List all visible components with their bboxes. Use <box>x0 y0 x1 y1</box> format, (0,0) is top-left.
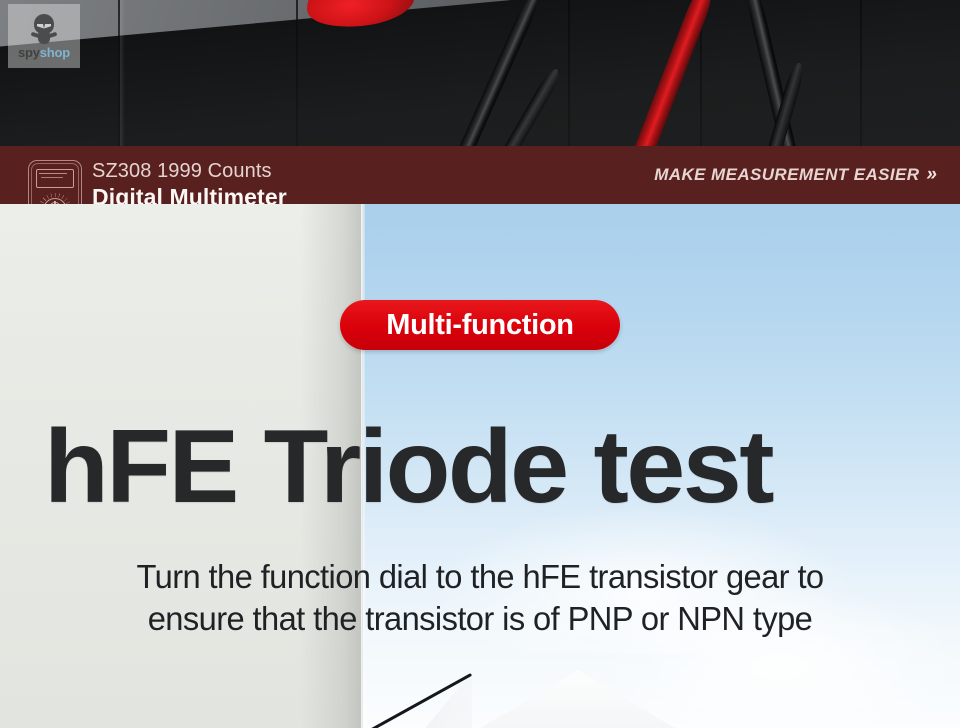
panel-seam <box>860 0 862 146</box>
product-code-label: SZ308 1999 Counts <box>92 160 287 184</box>
watermark-label: spyshop <box>18 46 70 59</box>
panel-seam <box>568 0 570 146</box>
multi-function-badge: Multi-function <box>340 300 620 350</box>
watermark-text-secondary: shop <box>40 45 70 60</box>
product-corner-edge <box>262 672 532 728</box>
header-tagline: MAKE MEASUREMENT EASIER » <box>654 164 934 186</box>
promo-banner: spyshop SZ308 1999 Counts Digital Multim… <box>0 0 960 728</box>
tagline-text: MAKE MEASUREMENT EASIER <box>654 165 919 185</box>
badge-label: Multi-function <box>386 311 573 340</box>
subtitle-line-2: ensure that the transistor is of PNP or … <box>5 598 955 640</box>
page-subtitle: Turn the function dial to the hFE transi… <box>5 556 955 640</box>
ninja-mascot-icon <box>31 14 57 44</box>
subtitle-line-1: Turn the function dial to the hFE transi… <box>5 556 955 598</box>
page-title: hFE Triode test <box>44 415 952 527</box>
double-chevron-right-icon: » <box>926 164 934 186</box>
panel-seam <box>296 0 298 146</box>
spyshop-watermark: spyshop <box>8 4 80 68</box>
watermark-text-primary: spy <box>18 45 40 60</box>
panel-seam-glint <box>120 0 125 146</box>
product-photo-strip: spyshop <box>0 0 960 146</box>
